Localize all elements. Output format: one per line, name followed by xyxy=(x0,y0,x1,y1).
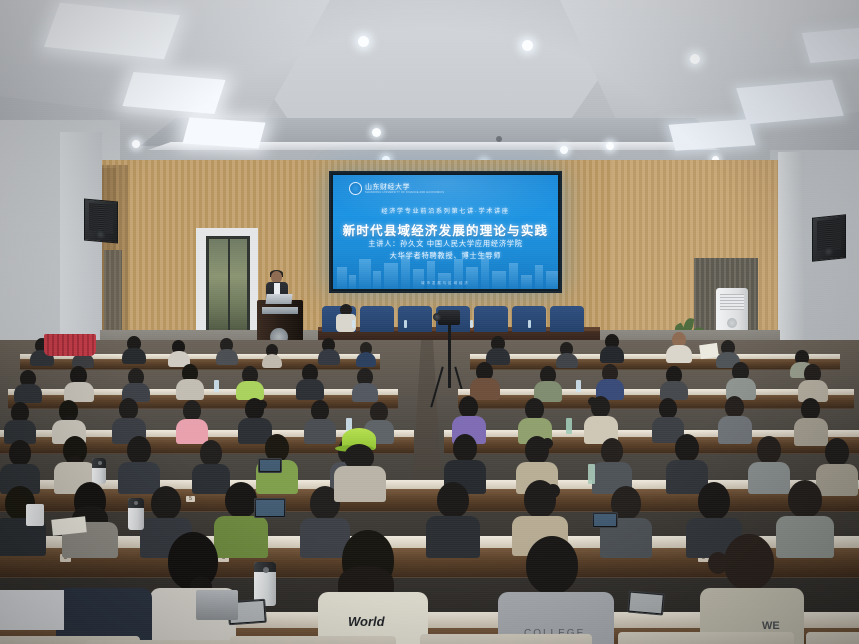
audience-member xyxy=(262,344,282,366)
shoulders xyxy=(176,379,204,400)
thermos-flask xyxy=(92,458,106,484)
shoulders xyxy=(216,349,238,365)
tripod-column xyxy=(448,324,451,388)
head-table-chair xyxy=(550,306,584,332)
water-bottle xyxy=(352,320,355,328)
audience-member xyxy=(798,364,828,400)
video-camera xyxy=(438,310,460,325)
smartphone xyxy=(592,512,618,528)
shoulders xyxy=(64,382,94,402)
head xyxy=(698,482,730,520)
audience-member xyxy=(718,396,752,442)
desk-surface xyxy=(458,389,854,395)
red-plastic-crate xyxy=(44,334,96,356)
audience-member xyxy=(216,338,238,364)
smartphone-on-desk xyxy=(627,590,665,615)
desk-row xyxy=(470,358,840,370)
phone-screen xyxy=(594,514,616,526)
water-bottle xyxy=(588,464,595,484)
phone-screen xyxy=(629,593,662,614)
audience-member xyxy=(600,334,624,362)
smartphone-held-up xyxy=(254,498,286,518)
lecture-hall-photo: 山东财经大学 SHANDONG UNIVERSITY OF FINANCE AN… xyxy=(0,0,859,644)
audience-member xyxy=(176,364,204,398)
university-emblem-icon xyxy=(349,182,362,195)
water-bottle xyxy=(528,320,531,328)
lectern-nameplate xyxy=(262,307,298,314)
audience-member xyxy=(426,482,480,554)
head xyxy=(757,436,781,464)
paper-sheet xyxy=(0,590,64,630)
audience-member: WE xyxy=(700,534,804,644)
audience-member xyxy=(118,436,160,492)
water-bottle xyxy=(214,380,219,392)
shoulders xyxy=(318,349,340,365)
shoulders xyxy=(352,383,378,402)
head xyxy=(453,434,477,462)
shoulders xyxy=(334,466,386,502)
ceiling-downlight xyxy=(522,40,533,51)
shoulders xyxy=(14,384,42,403)
audience-seating-area: 5 8 xyxy=(0,340,859,644)
ceiling-downlight xyxy=(690,54,700,64)
wall-loudspeaker-left xyxy=(84,199,118,244)
phone-screen xyxy=(260,460,280,471)
ceiling xyxy=(0,0,859,178)
head xyxy=(311,400,329,421)
head xyxy=(825,438,849,466)
institution-name: 山东财经大学 xyxy=(365,184,444,191)
ceiling-downlight xyxy=(560,146,568,154)
seat-back xyxy=(618,632,794,644)
ceiling-downlight xyxy=(372,128,381,137)
audience-member xyxy=(176,400,208,442)
ceiling-panel-light xyxy=(802,27,859,63)
water-bottle xyxy=(576,380,581,392)
wall-pillar-left xyxy=(60,132,102,362)
audience-member xyxy=(592,438,632,492)
speaker-grille xyxy=(89,203,113,233)
ceiling-downlight xyxy=(132,140,140,148)
head-table-chair xyxy=(512,306,546,332)
camera-lens-icon xyxy=(433,313,441,321)
audience-member xyxy=(352,368,378,400)
shoulders xyxy=(122,348,146,364)
head xyxy=(200,440,222,466)
audience-member xyxy=(122,336,146,362)
water-bottle xyxy=(470,320,473,328)
projection-screen: 山东财经大学 SHANDONG UNIVERSITY OF FINANCE AN… xyxy=(333,175,558,289)
head xyxy=(370,402,388,422)
head xyxy=(724,534,774,590)
audience-member-world-jacket: World xyxy=(318,530,428,644)
audience-member xyxy=(304,400,336,442)
head xyxy=(725,396,744,418)
ceiling-panel-light xyxy=(669,119,756,151)
hair-bun xyxy=(542,438,553,449)
ceiling-downlight xyxy=(358,36,369,47)
shoulders xyxy=(296,379,324,400)
head xyxy=(119,398,138,420)
audience-member xyxy=(150,532,236,642)
institution-name-latin: SHANDONG UNIVERSITY OF FINANCE AND ECONO… xyxy=(365,191,444,194)
seat-back xyxy=(86,640,236,644)
ac-badge xyxy=(727,318,737,328)
audience-member xyxy=(0,440,40,490)
hair-bun xyxy=(708,552,728,574)
thermos-flask xyxy=(128,498,144,530)
audience-member xyxy=(14,370,42,400)
smartphone xyxy=(258,458,282,473)
shoulders xyxy=(600,346,624,363)
door-mullion xyxy=(228,239,230,333)
ceiling-panel-light xyxy=(183,117,266,148)
smoke-detector xyxy=(496,136,502,142)
head xyxy=(127,436,151,464)
head xyxy=(601,438,623,464)
head-table-chair xyxy=(360,306,394,332)
audience-member xyxy=(726,362,756,398)
head xyxy=(151,486,181,520)
shirt-text-we: WE xyxy=(762,620,780,632)
audience-member xyxy=(4,402,36,442)
head-table-chair xyxy=(474,306,508,332)
wall-loudspeaker-right xyxy=(812,214,846,262)
shoulders xyxy=(262,354,282,368)
water-bottle xyxy=(404,320,407,328)
shoulders xyxy=(426,516,480,558)
water-bottle xyxy=(566,418,572,434)
projection-screen-frame: 山东财经大学 SHANDONG UNIVERSITY OF FINANCE AN… xyxy=(329,171,562,293)
audience-member xyxy=(356,342,376,366)
head xyxy=(788,480,822,518)
head xyxy=(675,434,699,462)
head xyxy=(437,482,469,518)
head xyxy=(659,398,677,419)
head xyxy=(525,398,544,420)
shoulders xyxy=(718,416,752,444)
slide-footer: 城市发展与区域经济 xyxy=(333,280,558,285)
audience-member xyxy=(236,366,264,398)
hair-bun xyxy=(546,484,560,498)
ceiling-panel-light xyxy=(736,80,844,124)
slide-title: 新时代县域经济发展的理论与实践 xyxy=(333,220,558,239)
audience-member xyxy=(666,332,692,362)
thermos-button xyxy=(263,567,269,573)
audience-member xyxy=(318,338,340,364)
ceiling-downlight xyxy=(606,142,614,150)
center-aisle xyxy=(412,340,442,490)
audience-member xyxy=(660,366,688,398)
audience-member-college-sweatshirt: COLLEGE xyxy=(498,536,614,644)
seat-back xyxy=(420,634,592,644)
presenter-laptop xyxy=(265,294,292,304)
head xyxy=(183,400,201,421)
audience-member xyxy=(470,362,500,398)
seat-back xyxy=(230,636,396,644)
audience-member xyxy=(56,570,152,644)
ac-louver xyxy=(720,294,744,310)
seat-back xyxy=(806,632,859,644)
phone-screen xyxy=(256,500,284,516)
head-table-chair xyxy=(398,306,432,332)
desk-surface xyxy=(470,354,840,359)
wall-pillar-right xyxy=(778,152,804,366)
head xyxy=(801,398,820,420)
thermos-button xyxy=(98,461,102,465)
tablet-device xyxy=(196,590,238,620)
head xyxy=(526,536,578,594)
audience-member xyxy=(168,340,190,365)
head xyxy=(225,482,257,518)
glass-door-to-garden[interactable] xyxy=(206,236,250,336)
head xyxy=(9,440,31,466)
hair-bun xyxy=(258,400,267,409)
shoulders xyxy=(356,352,376,367)
hair-bun xyxy=(588,397,597,406)
slide-series-line: 经济学专业前沿系列第七讲·学术讲座 xyxy=(333,206,558,215)
white-mug xyxy=(26,504,44,526)
shoulders xyxy=(666,345,692,363)
audience-member xyxy=(486,336,510,364)
audience-member xyxy=(556,342,578,366)
head xyxy=(459,396,478,418)
audience-member xyxy=(584,396,618,442)
jacket-text-world: World xyxy=(348,614,385,629)
audience-member xyxy=(596,364,624,398)
speaker-woofer xyxy=(824,247,834,257)
audience-member xyxy=(122,368,150,400)
audience-member xyxy=(64,366,94,400)
audience-member-green-cap xyxy=(334,428,386,498)
screen-institution-logo: 山东财经大学 SHANDONG UNIVERSITY OF FINANCE AN… xyxy=(349,182,444,195)
audience-member xyxy=(296,364,324,398)
audience-member xyxy=(534,366,562,400)
